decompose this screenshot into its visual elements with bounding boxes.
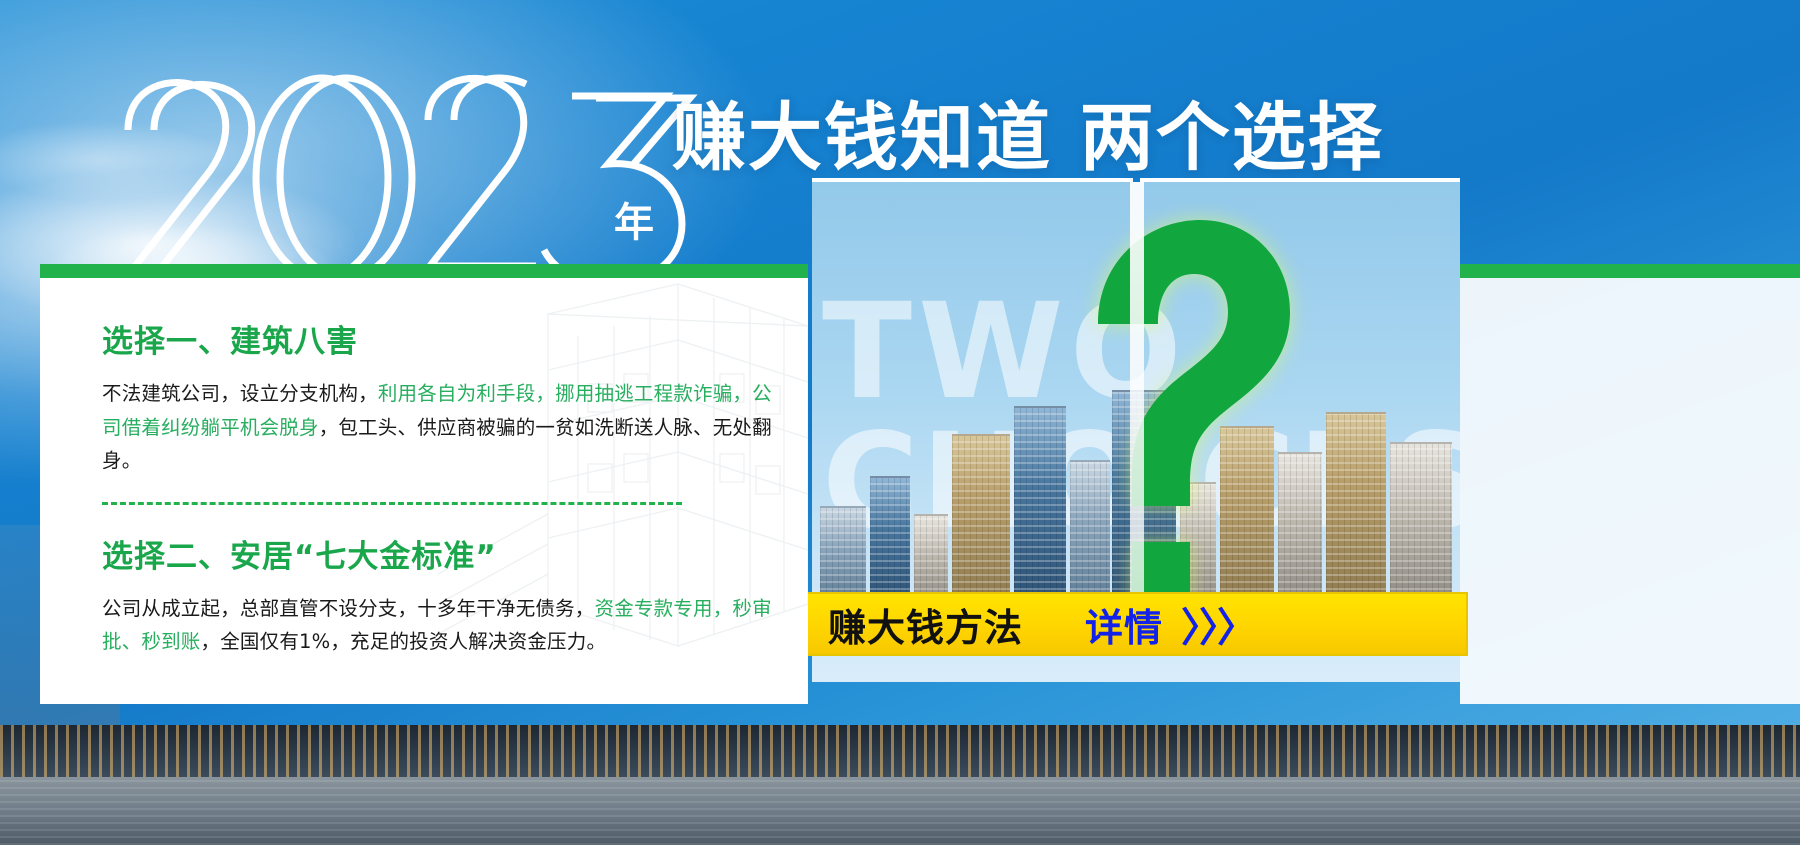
promo-banner: 年 赚大钱知道 两个选择 TWO CHOICES: [0, 0, 1800, 845]
body-text-plain: ，全国仅有1%，充足的投资人解决资金压力。: [201, 630, 607, 653]
body-text-plain: 公司从成立起，总部直管不设分支，十多年干净无债务，: [102, 597, 595, 620]
section-one-title: 选择一、建筑八害: [102, 316, 782, 361]
cta-detail-label: 详情: [1085, 597, 1163, 652]
right-edge-panel: [1460, 264, 1800, 704]
section-one-body: 不法建筑公司，设立分支机构，利用各自为利手段，挪用抽逃工程款诈骗，公司借着纠纷躺…: [102, 377, 774, 478]
cta-main-label: 赚大钱方法: [828, 597, 1023, 652]
water-reflection: [0, 777, 1800, 845]
panel-slit-divider: [1130, 182, 1144, 602]
cta-button[interactable]: 赚大钱方法 详情 〉〉〉: [802, 592, 1468, 656]
bottom-city-strip: [0, 725, 1800, 845]
body-text-plain: 不法建筑公司，设立分支机构，: [102, 382, 378, 405]
year-suffix-label: 年: [614, 190, 654, 248]
section-two-title: 选择二、安居“七大金标准”: [102, 531, 782, 576]
chevron-right-icon: 〉〉〉: [1181, 595, 1255, 653]
year-graphic: [110, 58, 730, 293]
info-card: 选择一、建筑八害 不法建筑公司，设立分支机构，利用各自为利手段，挪用抽逃工程款诈…: [40, 264, 808, 704]
card-content: 选择一、建筑八害 不法建筑公司，设立分支机构，利用各自为利手段，挪用抽逃工程款诈…: [102, 316, 782, 659]
city-lights: [0, 725, 1800, 781]
headline-title: 赚大钱知道 两个选择: [672, 78, 1384, 185]
section-two-body: 公司从成立起，总部直管不设分支，十多年干净无债务，资金专款专用，秒审批、秒到账，…: [102, 592, 774, 659]
section-divider: [102, 502, 682, 505]
right-edge-green-bar: [1460, 264, 1800, 278]
